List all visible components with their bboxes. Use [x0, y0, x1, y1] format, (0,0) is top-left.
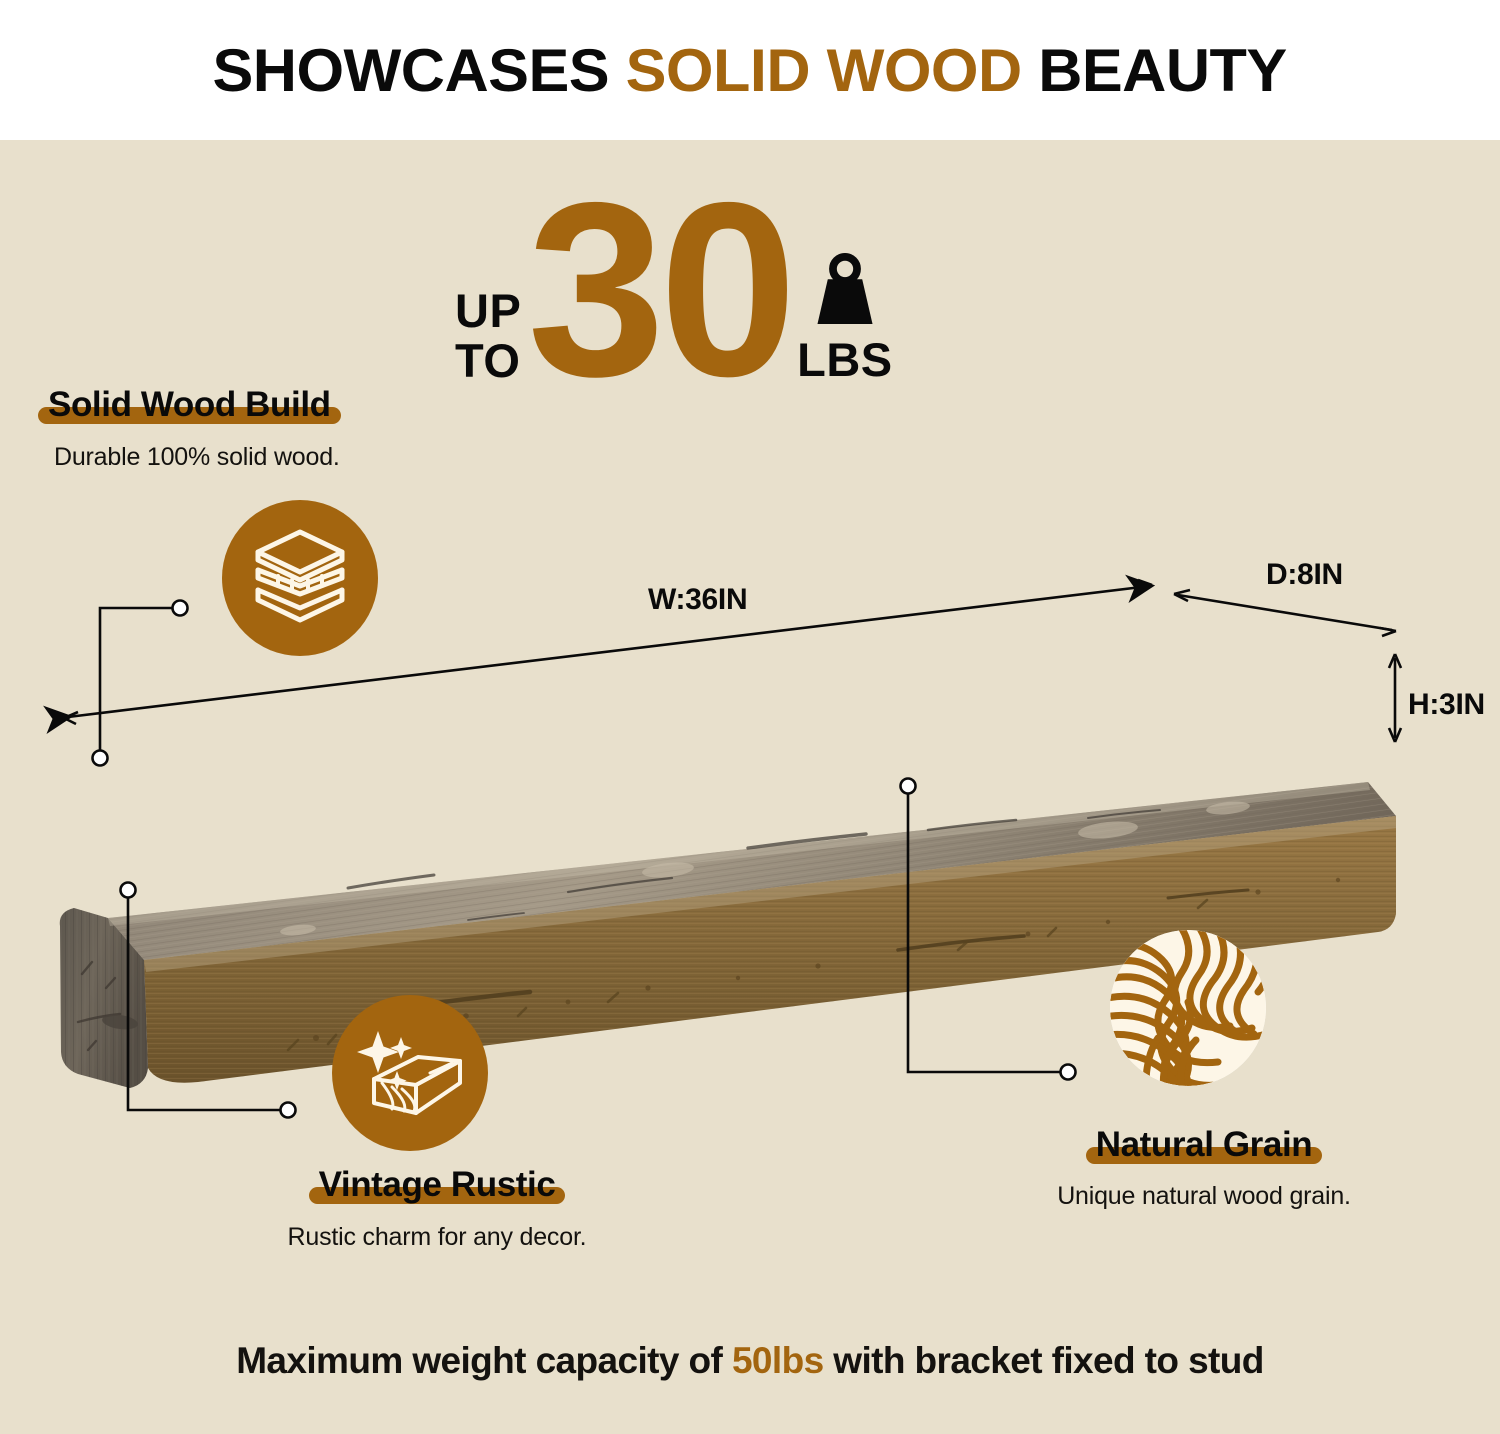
- stacked-wood-layers-icon: [222, 500, 378, 656]
- title-part-1: SHOWCASES: [213, 37, 626, 104]
- feature-subtitle-vintage: Rustic charm for any decor.: [272, 1223, 602, 1252]
- title-part-3: BEAUTY: [1022, 37, 1287, 104]
- weight-icon: [802, 250, 888, 336]
- up-word: UP: [455, 286, 521, 336]
- capacity-number: 30: [527, 188, 791, 391]
- lbs-group: LBS: [797, 250, 893, 391]
- feature-title-wrap-solid: Solid Wood Build: [38, 385, 341, 427]
- lbs-label: LBS: [797, 332, 893, 387]
- footer-highlight: 50lbs: [732, 1340, 824, 1381]
- feature-natural-grain: Natural Grain Unique natural wood grain.: [1044, 1125, 1364, 1211]
- feature-title-wrap-vintage: Vintage Rustic: [309, 1165, 566, 1207]
- up-to-label: UP TO: [455, 286, 521, 392]
- feature-title-solid: Solid Wood Build: [48, 385, 331, 424]
- footer-text-before: Maximum weight capacity of: [236, 1340, 732, 1381]
- header-band: SHOWCASES SOLID WOOD BEAUTY: [0, 0, 1500, 140]
- feature-vintage-rustic: Vintage Rustic Rustic charm for any deco…: [272, 1165, 602, 1252]
- feature-title-vintage: Vintage Rustic: [319, 1165, 556, 1204]
- connector-dot-solid-wood-outer: [173, 601, 188, 616]
- footer-text-after: with bracket fixed to stud: [824, 1340, 1264, 1381]
- page-title: SHOWCASES SOLID WOOD BEAUTY: [213, 36, 1287, 105]
- wood-plank-sparkle-icon: [332, 995, 488, 1151]
- dimension-label-depth: D:8IN: [1266, 558, 1343, 592]
- depth-arrow: [1178, 595, 1392, 630]
- feature-title-natural: Natural Grain: [1096, 1125, 1313, 1164]
- title-part-2: SOLID WOOD: [626, 37, 1022, 104]
- feature-subtitle-natural: Unique natural wood grain.: [1044, 1182, 1364, 1211]
- feature-title-wrap-natural: Natural Grain: [1086, 1125, 1323, 1167]
- wood-grain-pattern-icon: [1110, 930, 1266, 1086]
- feature-subtitle-solid: Durable 100% solid wood.: [54, 443, 341, 472]
- feature-solid-wood-build: Solid Wood Build Durable 100% solid wood…: [38, 385, 341, 472]
- infographic-root: SHOWCASES SOLID WOOD BEAUTY UP TO 30 LBS: [0, 0, 1500, 1434]
- dimension-label-width: W:36IN: [648, 583, 747, 617]
- weight-capacity-block: UP TO 30 LBS: [455, 188, 893, 391]
- footer-capacity-note: Maximum weight capacity of 50lbs with br…: [0, 1340, 1500, 1382]
- content-stage: UP TO 30 LBS: [0, 140, 1500, 1434]
- dimension-label-height: H:3IN: [1408, 688, 1485, 722]
- to-word: TO: [455, 336, 521, 386]
